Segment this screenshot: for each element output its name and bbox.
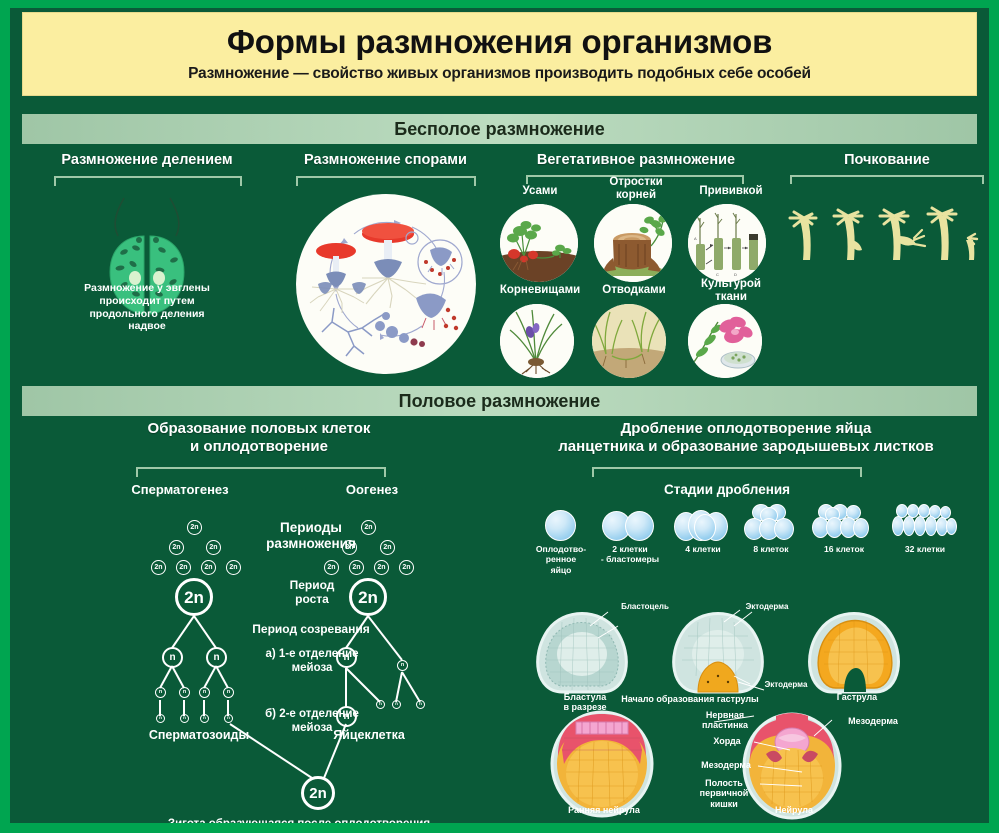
period-maturation-label: Период созревания — [226, 622, 396, 636]
polar-body-cell: n — [392, 700, 401, 709]
spermatogonium-cell: 2n — [151, 560, 166, 575]
vegetative-circle-root-shoots — [594, 204, 672, 282]
vegetative-label-usami: Усами — [496, 185, 584, 197]
bracket-gametogenesis — [136, 467, 386, 477]
vegetative-circle-tissue-culture — [688, 304, 762, 378]
primary-spermatocyte-cell: 2n — [175, 578, 213, 616]
bracket-division — [54, 176, 242, 186]
ovum-label: Яйцеклетка — [314, 728, 424, 742]
svg-text:D: D — [734, 272, 737, 277]
spermatogonium-cell: 2n — [176, 560, 191, 575]
vegetative-label-layering: Отводками — [588, 284, 680, 296]
cleavage-stage-16: 16 клеток — [806, 504, 882, 554]
cell-blob — [625, 511, 654, 541]
spermatogonium-cell: 2n — [226, 560, 241, 575]
page-subtitle: Размножение — свойство живых организмов … — [188, 65, 811, 83]
cell-blob — [774, 518, 794, 540]
bracket-embryology — [592, 467, 862, 477]
chord-label: Хорда — [700, 736, 754, 746]
cleavage-stage-2-label: 2 клетки - бластомеры — [594, 544, 666, 565]
vegetative-label-tissue-culture: Культурой ткани — [686, 278, 776, 304]
cleavage-stage-1: Оплодотво- ренное яйцо — [528, 508, 594, 575]
bracket-budding — [790, 175, 984, 184]
zygote-caption: Зигота образующаяся после оплодотворения — [134, 818, 464, 823]
mushroom-lifecycle-illustration — [296, 194, 476, 374]
neural-plate-label: Нервная пластинка — [694, 710, 756, 731]
block-embryology: Дробление оплодотворение яйца ланцетника… — [502, 420, 989, 810]
spermatozoa-label: Сперматозоиды — [124, 728, 274, 742]
mesoderm-right-label: Мезодерма — [838, 716, 908, 726]
block-vegetative: Вегетативное размножение Усами Отростки … — [496, 152, 776, 377]
cleavage-stage-4: 4 клетки — [670, 508, 736, 554]
section-band-sexual-label: Половое размножение — [399, 391, 601, 412]
spermatozoon-cell: n — [180, 714, 189, 723]
ectoderm-top-label: Эктодерма — [732, 602, 802, 611]
ovum-cell: n — [336, 706, 357, 727]
secondary-oocyte-cell: n — [336, 647, 357, 668]
cell-blob — [853, 518, 869, 538]
svg-text:A: A — [694, 236, 697, 241]
gametogenesis-connectors — [24, 420, 494, 820]
zygote-cell: 2n — [301, 776, 335, 810]
ectoderm-mid-label: Эктодерма — [752, 680, 820, 689]
block-gametogenesis: Образование половых клеток и оплодотворе… — [24, 420, 494, 820]
block-spores: Размножение спорами — [278, 152, 493, 382]
oogonium-cell: 2n — [324, 560, 339, 575]
blastula-label: Бластула в разрезе — [550, 692, 620, 713]
embryology-header: Дробление оплодотворение яйца ланцетника… — [502, 420, 989, 456]
section-band-asexual-label: Бесполое размножение — [394, 119, 605, 140]
cleavage-stage-32: 32 клетки — [886, 504, 964, 554]
cleavage-stage-8-label: 8 клеток — [738, 544, 804, 554]
polar-body-cell: n — [397, 660, 408, 671]
cell-blob — [694, 514, 716, 541]
neurula-label: Нейрула — [752, 805, 836, 815]
cleavage-stages-header: Стадии дробления — [587, 482, 867, 497]
spermatid-cell: n — [223, 687, 234, 698]
gametogenesis-header: Образование половых клеток и оплодотворе… — [24, 420, 494, 456]
oogonium-cell: 2n — [361, 520, 376, 535]
block-vegetative-header: Вегетативное размножение — [496, 152, 776, 168]
vegetative-circle-usami — [500, 204, 578, 282]
cell-blob — [545, 510, 576, 541]
secondary-spermatocyte-cell: n — [206, 647, 227, 668]
oogonium-cell: 2n — [374, 560, 389, 575]
spermatozoon-cell: n — [224, 714, 233, 723]
blastocoel-label: Бластоцель — [610, 602, 680, 611]
oogenesis-label: Оогенез — [324, 482, 420, 497]
vegetative-label-grafting: Прививкой — [686, 185, 776, 197]
block-budding: Почкование — [782, 152, 989, 292]
section-band-sexual: Половое размножение — [22, 386, 977, 416]
vegetative-label-root-shoots: Отростки корней — [592, 176, 680, 202]
vegetative-label-rhizomes: Корневищами — [490, 284, 590, 296]
vegetative-circle-layering — [592, 304, 666, 378]
mesoderm-mid-label: Мезодерма — [690, 760, 762, 770]
poster-inner: Формы размножения организмов Размножение… — [10, 8, 989, 823]
svg-text:C: C — [716, 272, 719, 277]
cleavage-stage-1-label: Оплодотво- ренное яйцо — [528, 544, 594, 575]
oogonium-cell: 2n — [349, 560, 364, 575]
cleavage-stage-16-label: 16 клеток — [806, 544, 882, 554]
page-title: Формы размножения организмов — [227, 25, 772, 60]
title-block: Формы размножения организмов Размножение… — [22, 12, 977, 96]
block-spores-header: Размножение спорами — [278, 152, 493, 168]
bracket-spores — [296, 176, 476, 186]
polar-body-cell: n — [416, 700, 425, 709]
cleavage-stage-2: 2 клетки - бластомеры — [594, 508, 666, 565]
oogonium-cell: 2n — [342, 540, 357, 555]
spermatid-cell: n — [179, 687, 190, 698]
oogonium-cell: 2n — [380, 540, 395, 555]
poster-root: Формы размножения организмов Размножение… — [0, 0, 999, 833]
polar-body-cell: n — [376, 700, 385, 709]
block-division: Размножение делением — [32, 152, 262, 352]
spermatogonium-cell: 2n — [206, 540, 221, 555]
oogonium-cell: 2n — [399, 560, 414, 575]
vegetative-circle-grafting: A C D — [688, 204, 766, 282]
section-band-asexual: Бесполое размножение — [22, 114, 977, 144]
embryo-row-1-illustration — [502, 596, 989, 706]
spermatogonium-cell: 2n — [201, 560, 216, 575]
spermatid-cell: n — [199, 687, 210, 698]
secondary-spermatocyte-cell: n — [162, 647, 183, 668]
spermatid-cell: n — [155, 687, 166, 698]
hydra-budding-illustration — [782, 188, 989, 298]
spermatogonium-cell: 2n — [187, 520, 202, 535]
spermatogonium-cell: 2n — [169, 540, 184, 555]
primary-oocyte-cell: 2n — [349, 578, 387, 616]
gastrula-label: Гаструла — [824, 692, 890, 702]
block-budding-header: Почкование — [782, 152, 989, 168]
euglena-note: Размножение у эвглены происходит путем п… — [32, 282, 262, 333]
meiosis-1-label: а) 1-е отделение мейоза — [232, 648, 392, 675]
cleavage-stage-4-label: 4 клетки — [670, 544, 736, 554]
vegetative-circle-rhizomes — [500, 304, 574, 378]
spermatogenesis-label: Сперматогенез — [120, 482, 240, 497]
cleavage-stage-8: 8 клеток — [738, 504, 804, 554]
cell-blob — [946, 518, 957, 535]
gastrula-start-label: Начало образования гаструлы — [620, 694, 760, 704]
early-neurula-label: Ранняя нейрула — [554, 805, 654, 815]
archenteron-label: Полость первичной кишки — [688, 778, 760, 809]
cleavage-stage-32-label: 32 клетки — [886, 544, 964, 554]
spermatozoon-cell: n — [200, 714, 209, 723]
spermatozoon-cell: n — [156, 714, 165, 723]
block-division-header: Размножение делением — [32, 152, 262, 168]
